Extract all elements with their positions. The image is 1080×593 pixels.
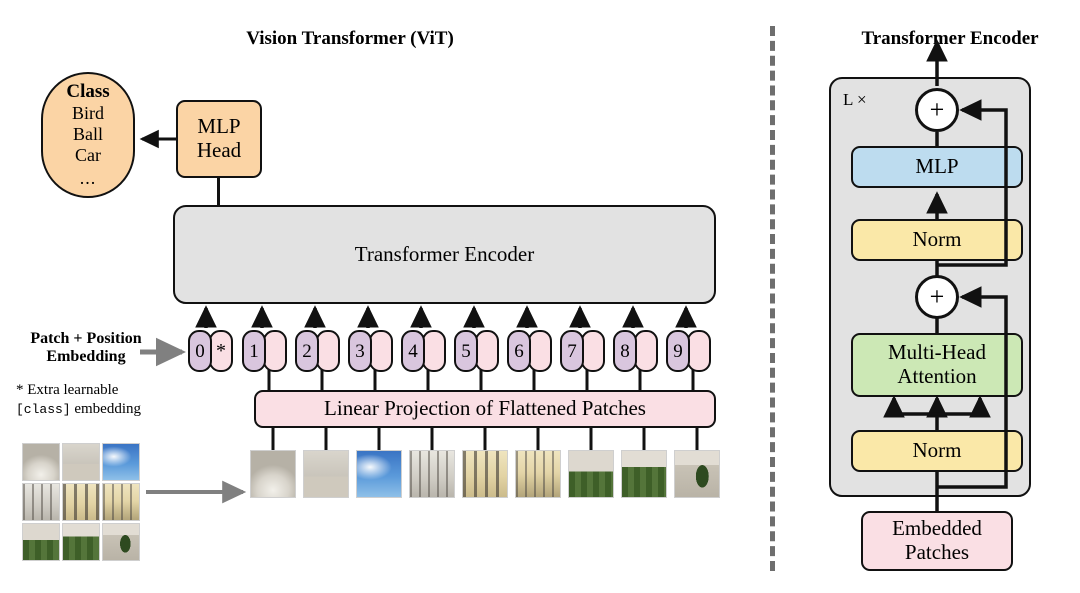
token-embedding-row: 0*123456789 bbox=[0, 330, 760, 376]
token-8[interactable]: 8 bbox=[613, 330, 658, 372]
token-9-embedding-pill bbox=[687, 330, 711, 372]
footnote-code: [class] bbox=[16, 402, 71, 417]
token-8-position-pill: 8 bbox=[613, 330, 637, 372]
token-9[interactable]: 9 bbox=[666, 330, 711, 372]
token-8-embedding-pill bbox=[634, 330, 658, 372]
embedded-patches-line1: Embedded bbox=[892, 517, 982, 541]
flattened-patch-4 bbox=[409, 450, 455, 498]
token-7-position-pill: 7 bbox=[560, 330, 584, 372]
image-patch-6 bbox=[102, 483, 140, 521]
token-9-position-pill: 9 bbox=[666, 330, 690, 372]
right-panel-title: Transformer Encoder bbox=[820, 28, 1080, 50]
multi-head-attention-block: Multi-Head Attention bbox=[851, 333, 1023, 397]
residual-add-top: + bbox=[915, 88, 959, 132]
class-box-ellipsis: ... bbox=[80, 168, 97, 189]
token-5-embedding-pill bbox=[475, 330, 499, 372]
linear-projection-box: Linear Projection of Flattened Patches bbox=[254, 390, 716, 428]
source-image-patch-grid bbox=[22, 443, 142, 563]
class-box-item-1: Ball bbox=[73, 124, 103, 145]
mha-line1: Multi-Head bbox=[888, 341, 986, 365]
token-2-position-pill: 2 bbox=[295, 330, 319, 372]
token-6[interactable]: 6 bbox=[507, 330, 552, 372]
flattened-patch-2 bbox=[303, 450, 349, 498]
token-6-position-pill: 6 bbox=[507, 330, 531, 372]
token-7-embedding-pill bbox=[581, 330, 605, 372]
norm-block-top: Norm bbox=[851, 219, 1023, 261]
residual-add-bottom: + bbox=[915, 275, 959, 319]
flattened-patch-6 bbox=[515, 450, 561, 498]
norm-bottom-label: Norm bbox=[913, 439, 962, 463]
image-patch-3 bbox=[102, 443, 140, 481]
flattened-patch-strip bbox=[250, 450, 720, 506]
mlp-block-label: MLP bbox=[915, 155, 958, 179]
footnote-tail: embedding bbox=[71, 401, 141, 417]
linear-projection-label: Linear Projection of Flattened Patches bbox=[324, 397, 646, 421]
encoder-repeat-label: L × bbox=[843, 90, 867, 110]
footnote-line2: [class] embedding bbox=[16, 400, 186, 419]
image-patch-1 bbox=[22, 443, 60, 481]
token-7[interactable]: 7 bbox=[560, 330, 605, 372]
flattened-patch-7 bbox=[568, 450, 614, 498]
token-0[interactable]: 0* bbox=[188, 330, 233, 372]
norm-top-label: Norm bbox=[913, 228, 962, 252]
embedded-patches-block: Embedded Patches bbox=[861, 511, 1013, 571]
image-patch-4 bbox=[22, 483, 60, 521]
token-4-embedding-pill bbox=[422, 330, 446, 372]
residual-add-bottom-symbol: + bbox=[930, 284, 945, 310]
image-patch-9 bbox=[102, 523, 140, 561]
flattened-patch-1 bbox=[250, 450, 296, 498]
image-patch-5 bbox=[62, 483, 100, 521]
mlp-block: MLP bbox=[851, 146, 1023, 188]
token-2[interactable]: 2 bbox=[295, 330, 340, 372]
left-panel-title: Vision Transformer (ViT) bbox=[120, 28, 580, 50]
footnote-line1: * Extra learnable bbox=[16, 381, 186, 400]
mlp-head-to-encoder-line bbox=[217, 177, 220, 207]
token-3[interactable]: 3 bbox=[348, 330, 393, 372]
class-box-item-0: Bird bbox=[72, 103, 104, 124]
token-0-embedding-pill: * bbox=[209, 330, 233, 372]
token-1-position-pill: 1 bbox=[242, 330, 266, 372]
panel-divider bbox=[770, 26, 775, 571]
token-5-position-pill: 5 bbox=[454, 330, 478, 372]
token-0-position-pill: 0 bbox=[188, 330, 212, 372]
embedded-patches-line2: Patches bbox=[905, 541, 969, 565]
residual-add-top-symbol: + bbox=[930, 97, 945, 123]
class-embedding-footnote: * Extra learnable [class] embedding bbox=[16, 381, 186, 419]
mlp-head-box: MLP Head bbox=[176, 100, 262, 178]
image-patch-7 bbox=[22, 523, 60, 561]
token-3-position-pill: 3 bbox=[348, 330, 372, 372]
class-box-item-2: Car bbox=[75, 145, 101, 166]
token-3-embedding-pill bbox=[369, 330, 393, 372]
token-2-embedding-pill bbox=[316, 330, 340, 372]
token-1-embedding-pill bbox=[263, 330, 287, 372]
flattened-patch-3 bbox=[356, 450, 402, 498]
mlp-head-line2: Head bbox=[197, 139, 241, 163]
token-4-position-pill: 4 bbox=[401, 330, 425, 372]
image-patch-2 bbox=[62, 443, 100, 481]
token-6-embedding-pill bbox=[528, 330, 552, 372]
class-box-header: Class bbox=[66, 81, 109, 103]
transformer-encoder-label: Transformer Encoder bbox=[355, 243, 534, 267]
token-4[interactable]: 4 bbox=[401, 330, 446, 372]
mha-line2: Attention bbox=[897, 365, 976, 389]
class-output-box: Class Bird Ball Car ... bbox=[41, 72, 135, 198]
mlp-head-line1: MLP bbox=[197, 115, 240, 139]
flattened-patch-5 bbox=[462, 450, 508, 498]
flattened-patch-9 bbox=[674, 450, 720, 498]
token-1[interactable]: 1 bbox=[242, 330, 287, 372]
flattened-patch-8 bbox=[621, 450, 667, 498]
token-5[interactable]: 5 bbox=[454, 330, 499, 372]
norm-block-bottom: Norm bbox=[851, 430, 1023, 472]
transformer-encoder-box: Transformer Encoder bbox=[173, 205, 716, 304]
image-patch-8 bbox=[62, 523, 100, 561]
